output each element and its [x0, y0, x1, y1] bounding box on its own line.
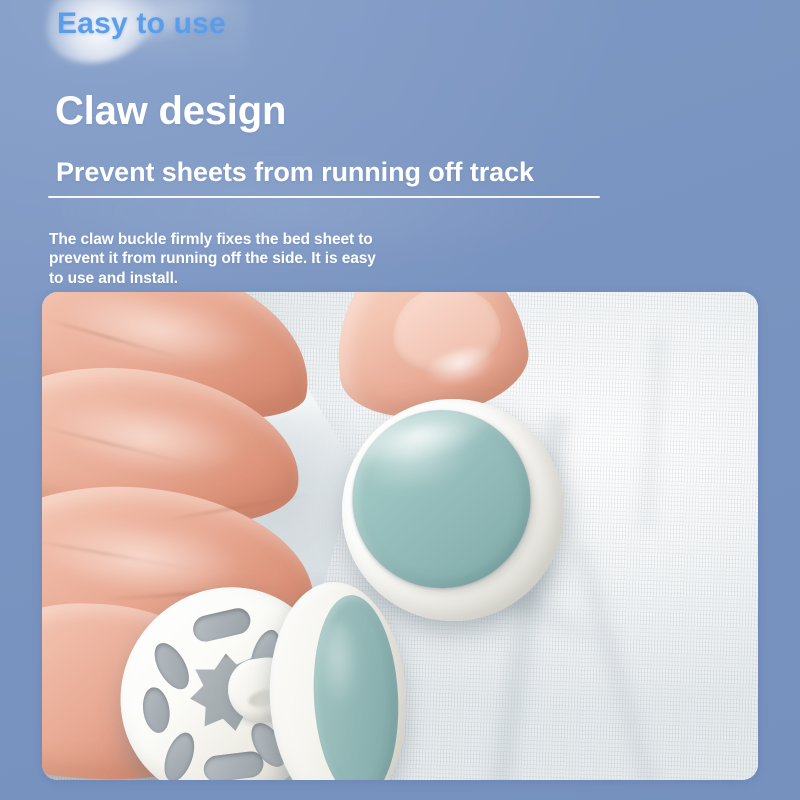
page-subtitle: Prevent sheets from running off track — [56, 157, 534, 188]
page-title: Claw design — [55, 89, 286, 134]
product-photo — [42, 292, 758, 780]
eyebrow-label: Easy to use — [57, 7, 226, 41]
claw-cutout — [159, 729, 200, 780]
bed-sheet-clip-second-cap — [264, 579, 412, 780]
claw-cutout — [203, 750, 264, 780]
product-feature-banner: Easy to use Claw design Prevent sheets f… — [0, 0, 800, 800]
divider-rule — [48, 196, 600, 198]
body-description: The claw buckle firmly fixes the bed she… — [49, 230, 379, 289]
